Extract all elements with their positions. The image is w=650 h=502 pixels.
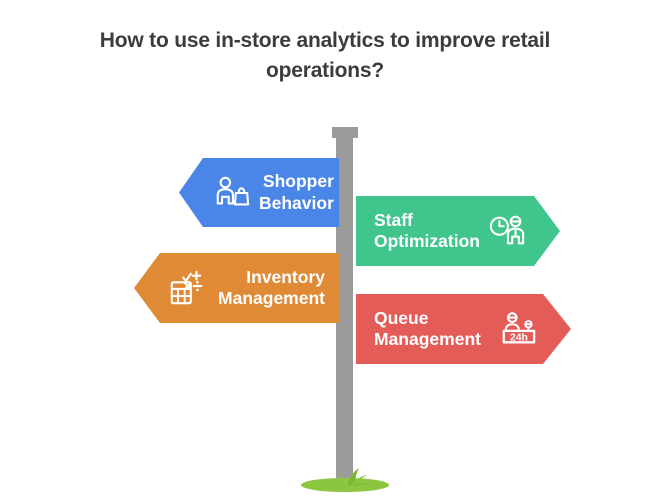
- grass-base-icon: [301, 466, 389, 492]
- signpost-illustration: Shopper Behavior Staff Optimization: [0, 0, 650, 502]
- sign-label-queue-management: Queue Management: [374, 308, 491, 351]
- desk-24h-label: 24h: [510, 332, 528, 343]
- shopper-person-bag-icon: [213, 174, 251, 212]
- sign-inventory-management[interactable]: Inventory Management: [134, 253, 339, 323]
- reception-desk-24h-icon: 24h: [499, 310, 537, 348]
- sign-staff-optimization[interactable]: Staff Optimization: [356, 196, 560, 266]
- sign-label-inventory-management: Inventory Management: [214, 267, 325, 310]
- signpost-pole-cap: [332, 127, 358, 138]
- sign-label-staff-optimization: Staff Optimization: [374, 210, 480, 253]
- sign-label-shopper-behavior: Shopper Behavior: [259, 171, 334, 214]
- calculator-math-icon: [168, 269, 206, 307]
- sign-queue-management[interactable]: Queue Management 24h: [356, 294, 571, 364]
- clock-person-icon: [488, 212, 526, 250]
- sign-shopper-behavior[interactable]: Shopper Behavior: [179, 158, 339, 227]
